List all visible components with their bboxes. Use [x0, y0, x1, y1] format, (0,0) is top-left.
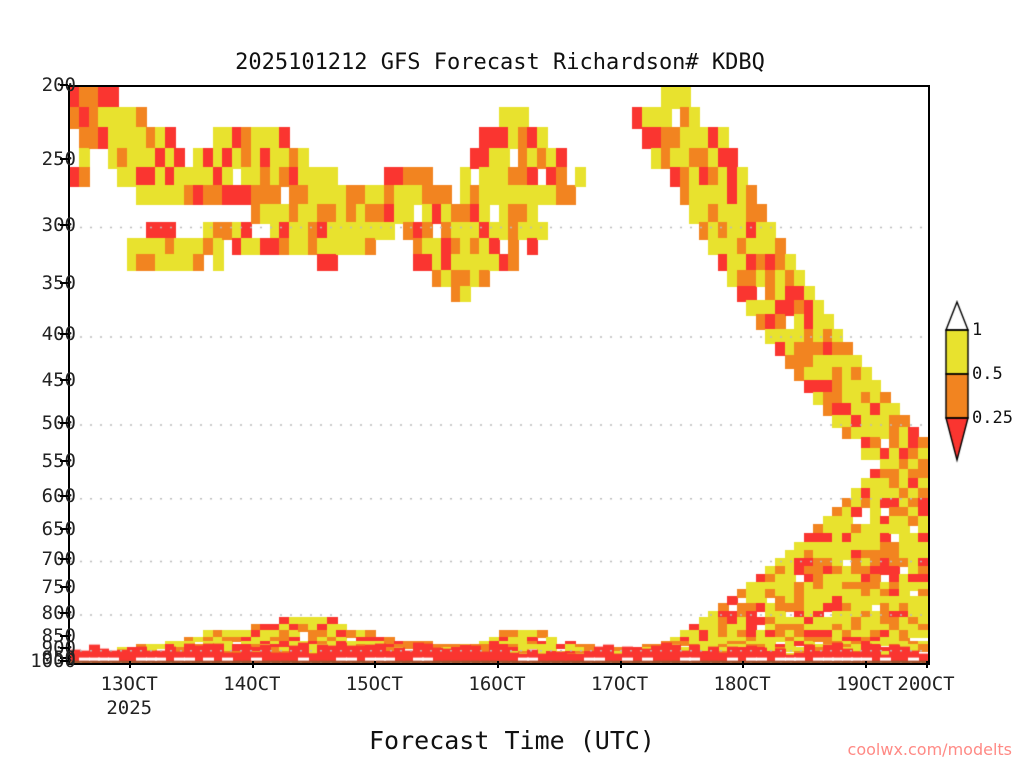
y-axis: 2002503003504004505005506006507007508008…	[0, 85, 76, 665]
richardson-heatmap-canvas	[70, 87, 928, 663]
y-tick-mark	[60, 460, 68, 462]
y-tick-mark	[60, 586, 68, 588]
colorbar-tick-label: 0.25	[972, 408, 1013, 428]
y-tick-label: 600	[42, 485, 76, 507]
x-tick-label: 14OCT	[223, 673, 280, 695]
y-tick-label: 700	[42, 548, 76, 570]
y-tick-label: 450	[42, 369, 76, 391]
x-tick-mark	[497, 661, 499, 668]
x-tick-label: 20OCT	[897, 673, 954, 695]
y-tick-label: 300	[42, 214, 76, 236]
chart-page: 2025101212 GFS Forecast Richardson# KDBQ…	[0, 0, 1024, 768]
y-tick-mark	[60, 422, 68, 424]
x-tick-label: 17OCT	[591, 673, 648, 695]
x-tick-label: 15OCT	[346, 673, 403, 695]
y-tick-label: 500	[42, 412, 76, 434]
y-tick-label: 750	[42, 576, 76, 598]
x-axis: 13OCT202514OCT15OCT16OCT17OCT18OCT19OCT2…	[68, 667, 930, 727]
x-tick-mark	[742, 661, 744, 668]
y-tick-label: 800	[42, 602, 76, 624]
colorbar-tick-label: 1	[972, 320, 982, 340]
y-tick-label: 200	[42, 74, 76, 96]
y-tick-mark	[60, 528, 68, 530]
y-tick-label: 350	[42, 272, 76, 294]
y-tick-mark	[60, 158, 68, 160]
x-tick-label: 18OCT	[714, 673, 771, 695]
y-tick-mark	[60, 282, 68, 284]
x-tick-mark	[374, 661, 376, 668]
x-tick-mark	[620, 661, 622, 668]
y-tick-mark	[60, 84, 68, 86]
y-tick-mark	[60, 612, 68, 614]
y-tick-mark	[60, 333, 68, 335]
plot-area	[68, 85, 930, 665]
y-tick-mark	[60, 660, 68, 662]
colorbar-tick-label: 0.5	[972, 364, 1003, 384]
x-tick-mark	[129, 661, 131, 668]
x-tick-sublabel: 2025	[106, 697, 152, 719]
x-tick-label: 16OCT	[468, 673, 525, 695]
x-tick-label: 13OCT	[101, 673, 158, 695]
x-tick-label: 19OCT	[836, 673, 893, 695]
y-tick-mark	[60, 224, 68, 226]
y-tick-label: 400	[42, 323, 76, 345]
x-tick-mark	[252, 661, 254, 668]
x-tick-mark	[865, 661, 867, 668]
y-tick-mark	[60, 495, 68, 497]
y-tick-label: 650	[42, 518, 76, 540]
y-tick-mark	[60, 379, 68, 381]
watermark: coolwx.com/modelts	[848, 740, 1012, 759]
y-tick-mark	[60, 558, 68, 560]
y-tick-label: 550	[42, 450, 76, 472]
x-tick-mark	[926, 661, 928, 668]
colorbar: 10.50.25	[938, 300, 1024, 470]
y-tick-label: 250	[42, 148, 76, 170]
page-title: 2025101212 GFS Forecast Richardson# KDBQ	[0, 50, 1000, 75]
